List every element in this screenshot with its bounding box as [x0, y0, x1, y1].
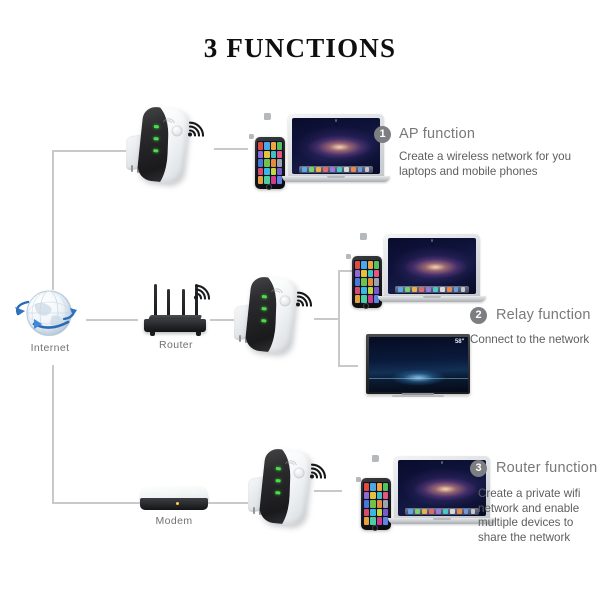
signal-dot-row1-a [264, 113, 271, 120]
repeater-relay-wifi-signal-icon [294, 290, 316, 308]
repeater-router-led-3 [275, 491, 280, 495]
laptop-trackpad-notch [327, 176, 345, 178]
line-ap-to-clients [214, 148, 248, 150]
internet-node[interactable]: Internet [12, 282, 88, 346]
repeater-ap[interactable] [126, 108, 206, 194]
laptop-trackpad-notch [423, 296, 441, 298]
modem-label: Modem [138, 515, 210, 527]
laptop-screen [292, 118, 380, 174]
line-internet-to-modem-vertical [52, 365, 54, 503]
function-1-badge: 1 [374, 126, 391, 143]
repeater-relay-body [244, 276, 297, 354]
repeater-ap-wps-button[interactable] [171, 125, 183, 137]
laptop-row1[interactable] [282, 114, 392, 184]
line-modem-to-repeater [208, 502, 252, 504]
television-row2[interactable]: 58" [366, 334, 472, 400]
signal-dot-row3-a [372, 455, 379, 462]
repeater-ap-wifi-signal-icon [186, 120, 208, 138]
repeater-relay-wps-button[interactable] [279, 295, 291, 307]
function-1-description: Create a wireless network for you laptop… [399, 150, 575, 179]
router-foot-right [196, 332, 201, 336]
router-body [144, 319, 206, 332]
page-title: 3 FUNCTIONS [0, 33, 600, 64]
laptop-dock [299, 166, 373, 173]
modem-node[interactable]: Modem [138, 482, 210, 528]
function-2-description: Connect to the network [470, 333, 598, 348]
laptop-webcam [335, 119, 338, 122]
laptop-webcam [431, 239, 434, 242]
router-label: Router [142, 339, 210, 351]
modem-body [140, 498, 208, 510]
smartphone-icon [255, 137, 285, 189]
laptop-trackpad-notch [433, 518, 451, 520]
line-relay-bracket-vertical [338, 270, 340, 366]
function-3-description: Create a private wifi network and enable… [478, 487, 596, 545]
modem-led-indicator [176, 502, 179, 505]
repeater-relay[interactable] [234, 278, 314, 364]
repeater-router-wifi-signal-icon [308, 462, 330, 480]
router-node[interactable]: Router [140, 283, 212, 353]
repeater-router-printed-signal-icon [283, 456, 299, 468]
repeater-ap-printed-signal-icon [161, 114, 177, 126]
diagram-canvas: 3 FUNCTIONS [0, 0, 600, 600]
repeater-router-led-2 [275, 479, 280, 483]
laptop-webcam [441, 461, 444, 464]
repeater-ap-led-2 [153, 137, 158, 141]
laptop-screen [388, 238, 476, 294]
repeater-router-wps-button[interactable] [293, 467, 305, 479]
function-1-title: AP function [399, 126, 475, 142]
repeater-ap-led-1 [154, 125, 159, 129]
smartphone-app-grid [363, 482, 389, 526]
function-3-badge: 3 [470, 460, 487, 477]
repeater-relay-led-3 [261, 319, 266, 323]
line-internet-to-ap-vertical [52, 150, 54, 290]
repeater-ap-led-3 [153, 149, 158, 153]
repeater-router[interactable] [248, 450, 328, 536]
repeater-ap-body [136, 106, 189, 184]
line-relay-to-tv [338, 365, 358, 367]
laptop-icon [384, 234, 480, 298]
repeater-relay-printed-signal-icon [269, 284, 285, 296]
router-antenna-1 [154, 284, 157, 318]
line-internet-to-modem-horizontal [52, 502, 140, 504]
laptop-dock [395, 286, 469, 293]
function-3-title: Router function [496, 460, 597, 476]
internet-label: Internet [12, 342, 88, 354]
smartphone-home-button[interactable] [372, 525, 378, 531]
smartphone-icon [361, 478, 391, 530]
television-size-badge: 58" [455, 339, 465, 345]
repeater-router-body [258, 448, 311, 526]
laptop-row2[interactable] [378, 234, 488, 304]
globe-orbit-arrows [12, 298, 88, 332]
function-2-badge: 2 [470, 307, 487, 324]
smartphone-app-grid [354, 260, 380, 304]
function-2-title: Relay function [496, 307, 591, 323]
television-screen: 58" [369, 337, 468, 392]
laptop-dock [405, 508, 479, 515]
signal-dot-row2-a [360, 233, 367, 240]
line-relay-stem [314, 318, 340, 320]
router-wifi-signal-icon [192, 283, 214, 301]
repeater-relay-led-2 [261, 307, 266, 311]
smartphone-app-grid [257, 141, 283, 185]
signal-dot-row2-b [346, 254, 351, 259]
repeater-relay-led-1 [262, 295, 267, 299]
television-screen-horizon [369, 378, 468, 379]
television-foot [392, 395, 444, 397]
repeater-router-led-1 [276, 467, 281, 471]
signal-dot-row1-b [249, 134, 254, 139]
television-icon: 58" [366, 334, 470, 394]
laptop-icon [288, 114, 384, 178]
smartphone-home-button[interactable] [266, 184, 272, 190]
router-foot-left [150, 332, 155, 336]
line-internet-to-router [86, 319, 138, 321]
smartphone-home-button[interactable] [363, 303, 369, 309]
